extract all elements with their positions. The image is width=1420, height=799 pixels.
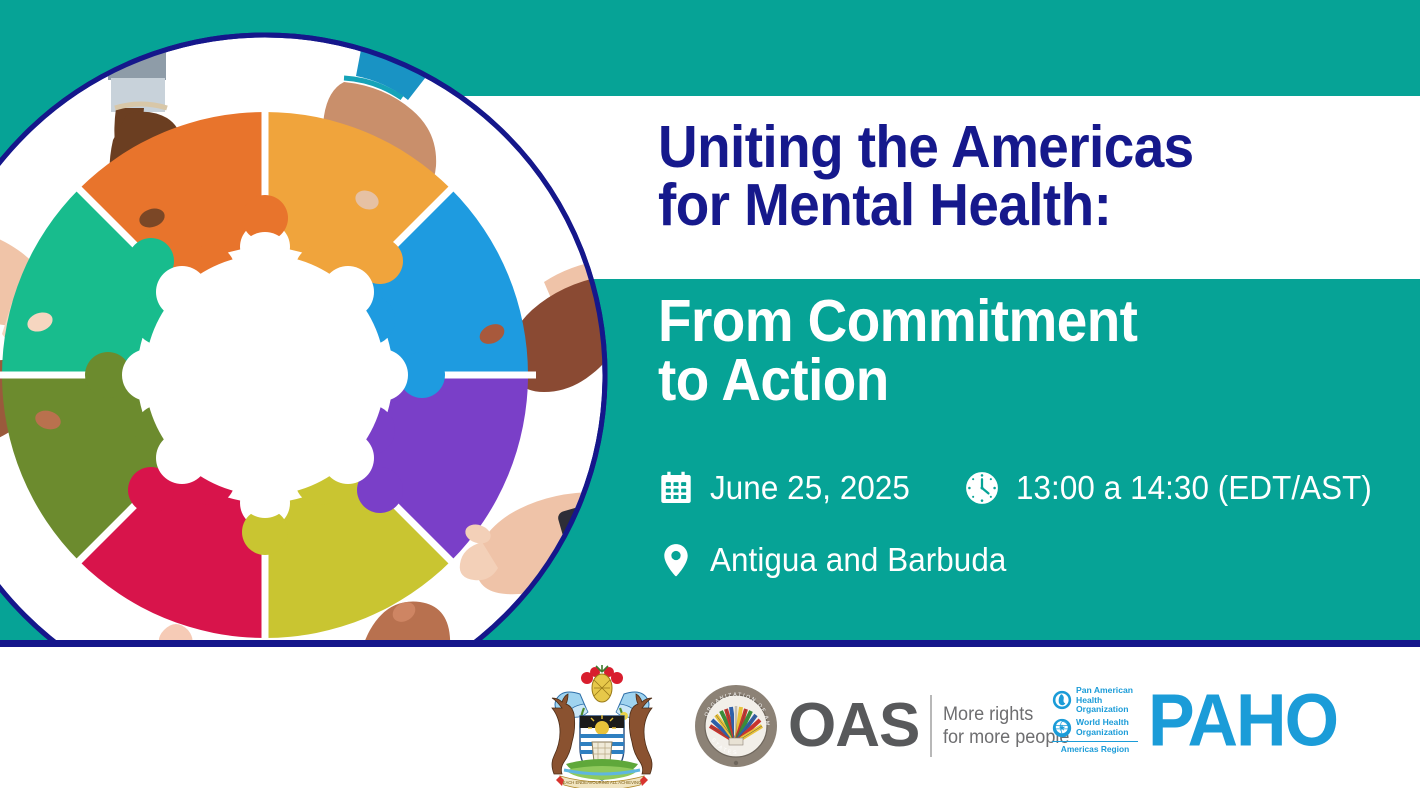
subtitle-line-1: From Commitment (658, 292, 1346, 351)
paho-logo: Pan American Health Organization World H… (1052, 686, 1337, 754)
title-line-1: Uniting the Americas (658, 118, 1337, 176)
paho-marks: Pan American Health Organization World H… (1052, 686, 1138, 754)
page-title: Uniting the Americas for Mental Health: (658, 118, 1337, 235)
paho-globe-icon (1052, 690, 1072, 710)
antigua-and-barbuda-coat-of-arms: EACH ENDEAVOURING ALL ACHIEVING (540, 664, 664, 788)
paho-pan-american-block: Pan American Health Organization (1052, 686, 1138, 715)
paho-wordmark: PAHO (1148, 688, 1337, 752)
navy-divider (0, 640, 1420, 647)
oas-tagline: More rights for more people (943, 703, 1069, 749)
event-time-text: 13:00 a 14:30 (EDT/AST) (1016, 469, 1372, 507)
event-details-row-2: Antigua and Barbuda (658, 534, 1391, 586)
event-date: June 25, 2025 (658, 469, 920, 507)
coat-of-arms-motto: EACH ENDEAVOURING ALL ACHIEVING (563, 780, 642, 785)
paho-org1-line3: Organization (1076, 705, 1133, 715)
event-date-text: June 25, 2025 (710, 469, 910, 507)
clock-icon (964, 470, 1000, 506)
paho-org2-line2: Organization (1076, 728, 1129, 738)
event-details-row-1: June 25, 2025 13:00 a 14:30 (EDT/AST) (658, 462, 1391, 514)
paho-region-label: Americas Region (1052, 741, 1138, 754)
event-location: Antigua and Barbuda (658, 541, 1022, 579)
oas-wordmark: OAS (788, 695, 919, 757)
puzzle-circle-hands-illustration (0, 22, 618, 728)
page-subtitle: From Commitment to Action (658, 292, 1346, 410)
oas-tagline-line-2: for more people (943, 726, 1069, 749)
paho-pan-american-text: Pan American Health Organization (1076, 686, 1133, 715)
oas-logo: ORGANIZATION OF AMERICAN STATES (694, 684, 1076, 768)
event-details: June 25, 2025 13:00 a 14:30 (EDT/AST) (658, 462, 1391, 586)
oas-seal: ORGANIZATION OF AMERICAN STATES (694, 684, 778, 768)
who-emblem-icon (1052, 718, 1072, 738)
event-time: 13:00 a 14:30 (EDT/AST) (964, 469, 1391, 507)
paho-who-block: World Health Organization (1052, 718, 1138, 738)
calendar-icon (658, 470, 694, 506)
oas-divider (930, 695, 932, 757)
subtitle-line-2: to Action (658, 351, 1346, 410)
paho-who-text: World Health Organization (1076, 718, 1129, 737)
title-line-2: for Mental Health: (658, 176, 1337, 234)
event-location-text: Antigua and Barbuda (710, 541, 1006, 579)
map-pin-icon (658, 542, 694, 578)
oas-tagline-line-1: More rights (943, 703, 1069, 726)
banner-canvas: Uniting the Americas for Mental Health: … (0, 0, 1420, 799)
